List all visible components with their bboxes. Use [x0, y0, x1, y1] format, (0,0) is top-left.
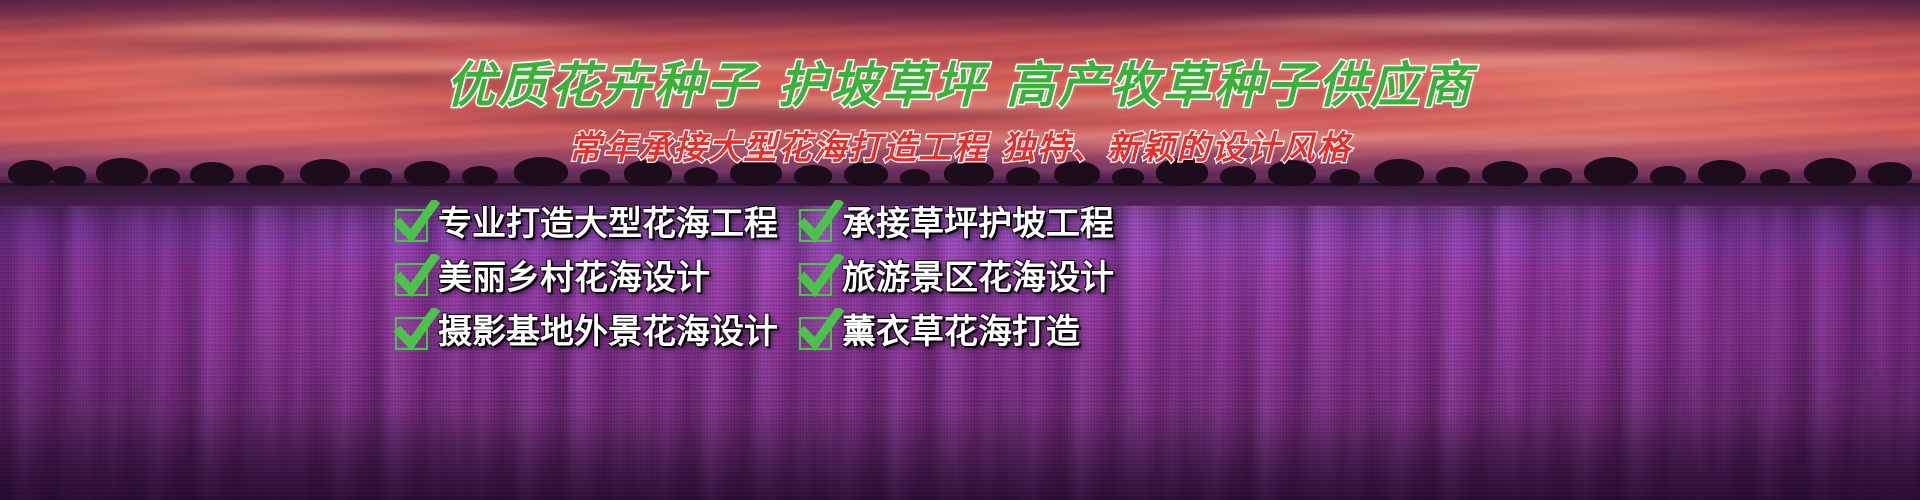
tree: [1006, 167, 1040, 186]
feature-item[interactable]: 摄影基地外景花海设计: [392, 306, 792, 358]
feature-label: 承接草坪护坡工程: [842, 207, 1114, 241]
feature-label: 美丽乡村花海设计: [438, 261, 710, 295]
cloud-band: [40, 24, 660, 38]
feature-column-left: 专业打造大型花海工程 美丽乡村花海设计 摄影基地外景: [392, 198, 792, 360]
banner-subheadline: 常年承接大型花海打造工程 独特、新颖的设计风格: [0, 121, 1920, 169]
feature-label: 薰衣草花海打造: [842, 315, 1080, 349]
feature-label: 旅游景区花海设计: [842, 261, 1114, 295]
check-mark-icon: [796, 258, 836, 298]
tree: [1436, 167, 1470, 186]
tree: [360, 168, 392, 186]
feature-list: 专业打造大型花海工程 美丽乡村花海设计 摄影基地外景: [392, 198, 1152, 344]
hero-banner: 优质花卉种子 护坡草坪 高产牧草种子供应商 常年承接大型花海打造工程 独特、新颖…: [0, 0, 1920, 500]
check-mark-icon: [796, 312, 836, 352]
tree: [1650, 166, 1686, 186]
feature-item[interactable]: 旅游景区花海设计: [796, 252, 1152, 304]
feature-item[interactable]: 美丽乡村花海设计: [392, 252, 792, 304]
check-mark-icon: [392, 258, 432, 298]
tree: [1330, 169, 1360, 186]
tree: [684, 167, 718, 186]
tree: [1760, 169, 1790, 186]
feature-label: 摄影基地外景花海设计: [438, 315, 778, 349]
feature-item[interactable]: 专业打造大型花海工程: [392, 198, 792, 250]
tree: [580, 169, 610, 186]
cloud-band: [1120, 18, 1820, 32]
banner-headline: 优质花卉种子 护坡草坪 高产牧草种子供应商: [0, 46, 1920, 117]
tree: [462, 166, 498, 186]
tree: [1540, 168, 1572, 186]
feature-column-right: 承接草坪护坡工程 旅游景区花海设计 薰衣草花海打造: [796, 198, 1152, 360]
tree: [1112, 168, 1144, 186]
tree: [900, 169, 930, 186]
check-mark-icon: [796, 204, 836, 244]
tree: [150, 168, 180, 186]
field-bottom-shadow: [0, 410, 1920, 500]
check-mark-icon: [392, 204, 432, 244]
tree: [52, 166, 86, 186]
feature-item[interactable]: 薰衣草花海打造: [796, 306, 1152, 358]
tree: [1220, 166, 1256, 186]
check-mark-icon: [392, 312, 432, 352]
feature-item[interactable]: 承接草坪护坡工程: [796, 198, 1152, 250]
feature-label: 专业打造大型花海工程: [438, 207, 778, 241]
